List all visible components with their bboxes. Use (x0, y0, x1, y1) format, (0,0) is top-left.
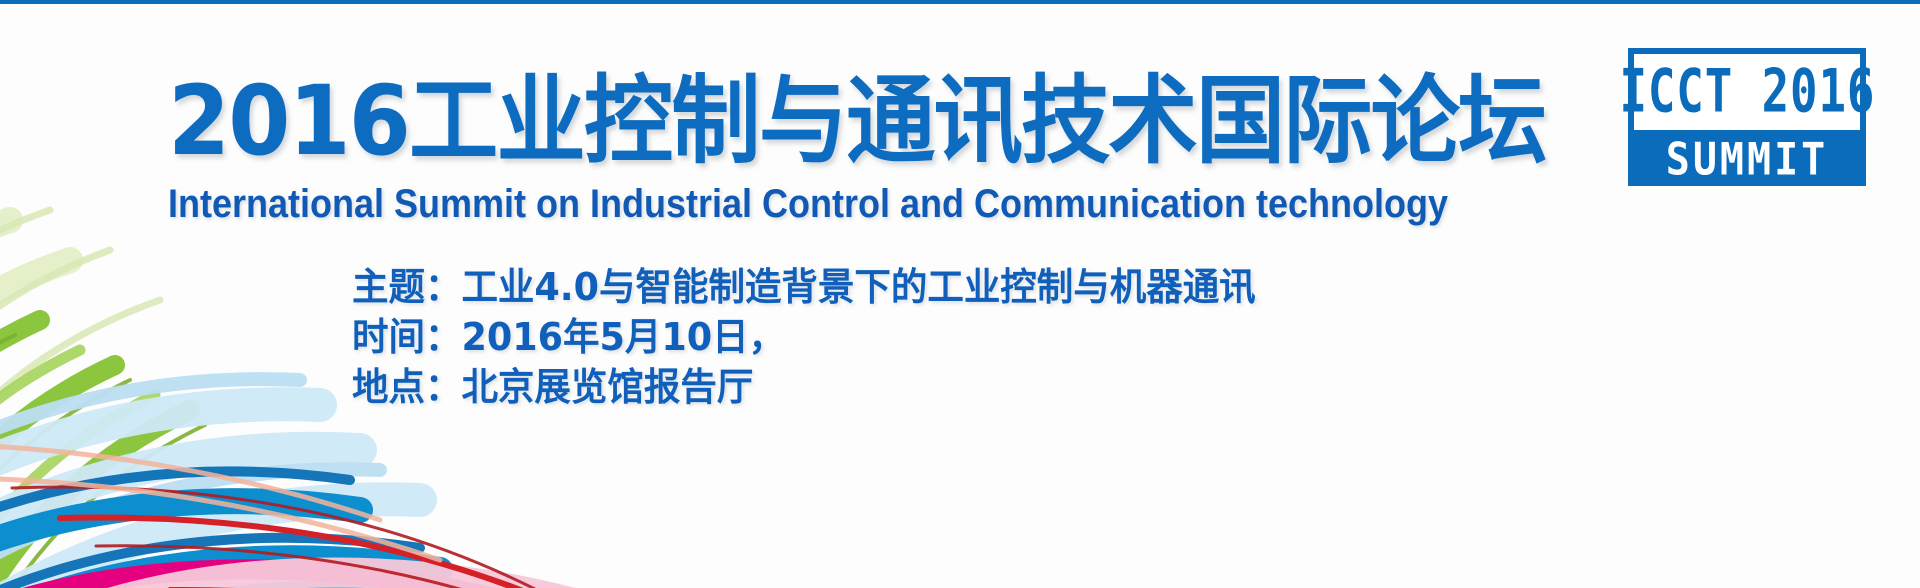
event-banner: 2016工业控制与通讯技术国际论坛 International Summit o… (0, 0, 1920, 588)
detail-line-time: 时间：2016年5月10日， (352, 312, 1256, 362)
logo-icct-text: ICCT 2016 (1619, 62, 1875, 121)
event-details: 主题：工业4.0与智能制造背景下的工业控制与机器通讯 时间：2016年5月10日… (352, 262, 1293, 412)
logo-bottom-bar: SUMMIT (1628, 134, 1866, 186)
detail-line-theme: 主题：工业4.0与智能制造背景下的工业控制与机器通讯 (352, 262, 1256, 312)
logo-top-box: ICCT 2016 (1628, 48, 1866, 136)
top-accent-rule (0, 0, 1920, 4)
headline-group: 2016工业控制与通讯技术国际论坛 International Summit o… (168, 72, 1498, 227)
icct-summit-logo: ICCT 2016 SUMMIT (1628, 48, 1866, 186)
page-title: 2016工业控制与通讯技术国际论坛 (168, 72, 1405, 172)
detail-line-place: 地点：北京展览馆报告厅 (352, 362, 1256, 412)
logo-summit-text: SUMMIT (1666, 138, 1829, 183)
page-subtitle: International Summit on Industrial Contr… (168, 182, 1365, 227)
